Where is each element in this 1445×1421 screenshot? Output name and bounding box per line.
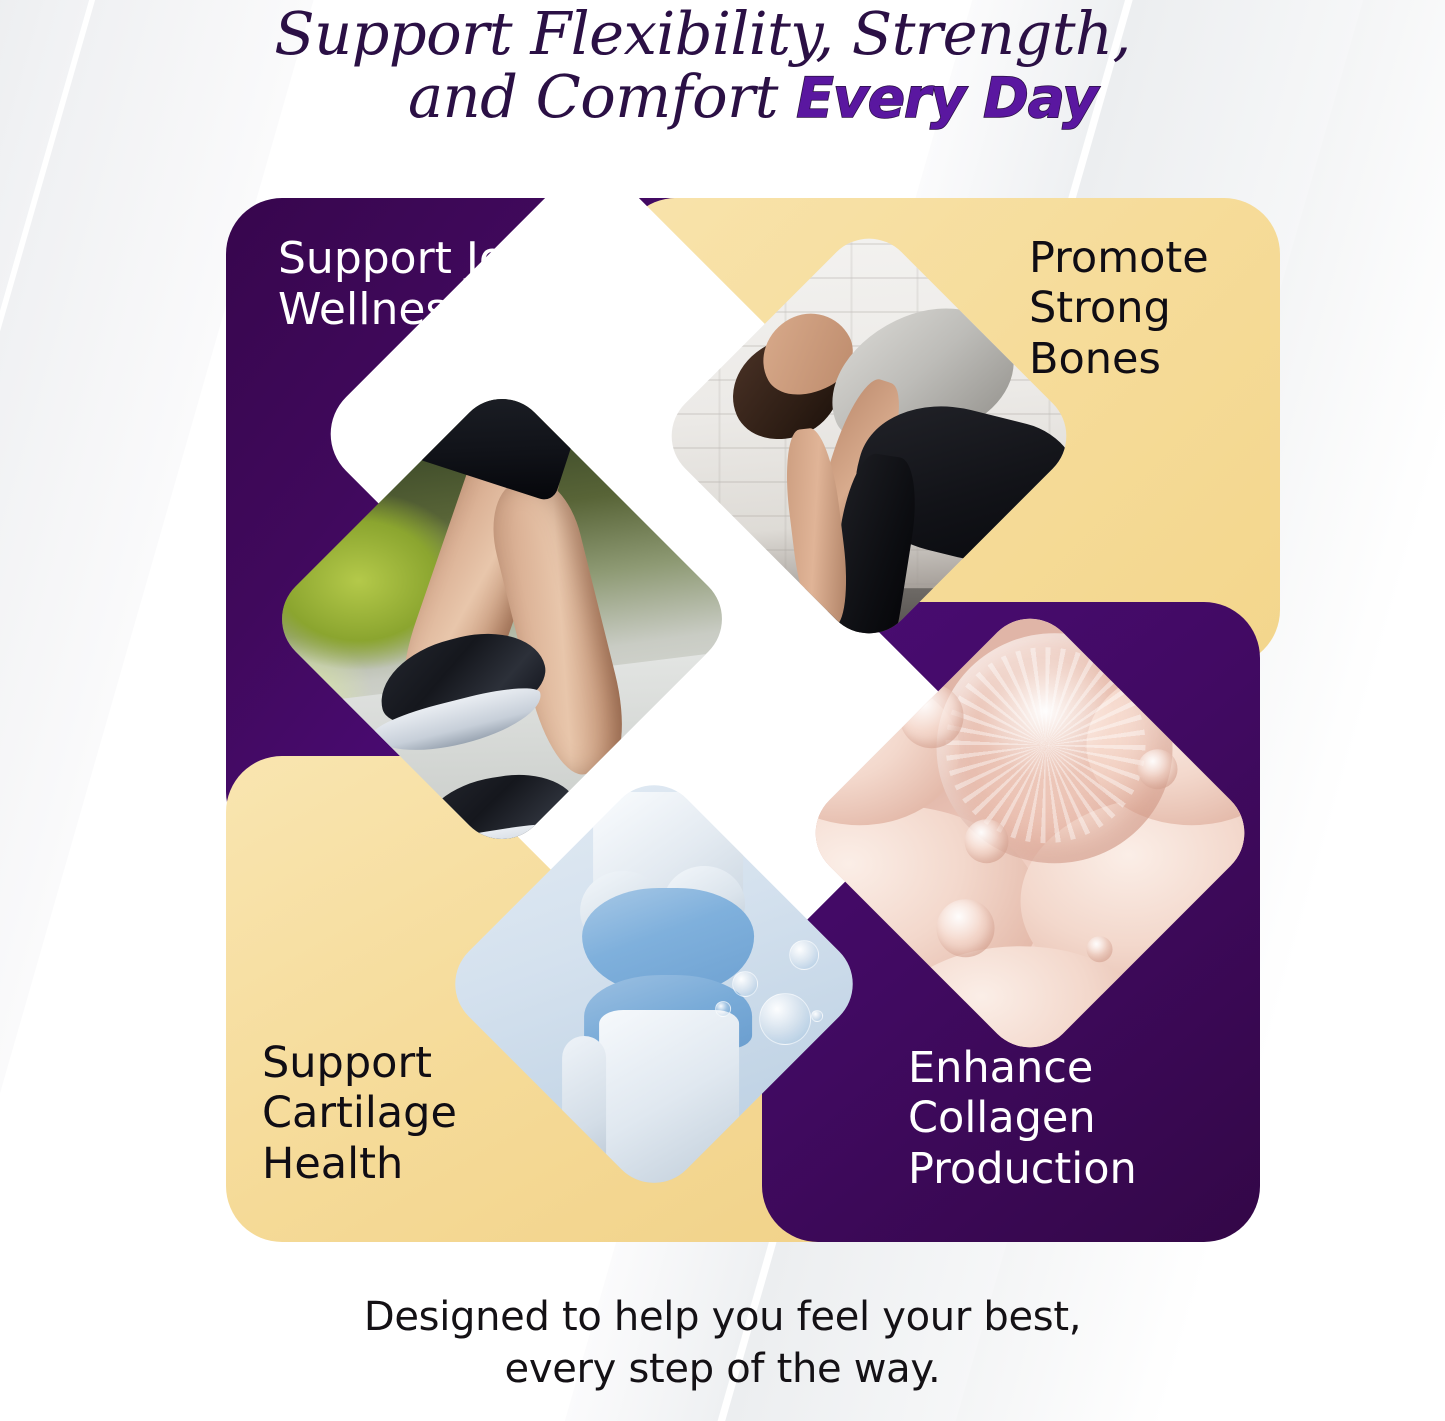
headline-line-2: and Comfort Every Day (0, 65, 1445, 128)
footer-line-2: every step of the way. (0, 1343, 1445, 1395)
card-label-enhance-collagen-production: Enhance Collagen Production (908, 1043, 1248, 1194)
footer-caption: Designed to help you feel your best, eve… (0, 1291, 1445, 1395)
card-label-support-joint-wellness: Support Joint Wellness (278, 233, 678, 336)
headline-line-2-emphasis: Every Day (796, 66, 1097, 130)
headline-line-2-script: and Comfort (408, 62, 796, 131)
card-label-support-cartilage-health: Support Cartilage Health (262, 1038, 562, 1189)
card-label-promote-strong-bones: Promote Strong Bones (1029, 233, 1289, 384)
headline-line-1: Support Flexibility, Strength, (0, 2, 1445, 65)
page-headline: Support Flexibility, Strength, and Comfo… (0, 2, 1445, 128)
footer-line-1: Designed to help you feel your best, (0, 1291, 1445, 1343)
